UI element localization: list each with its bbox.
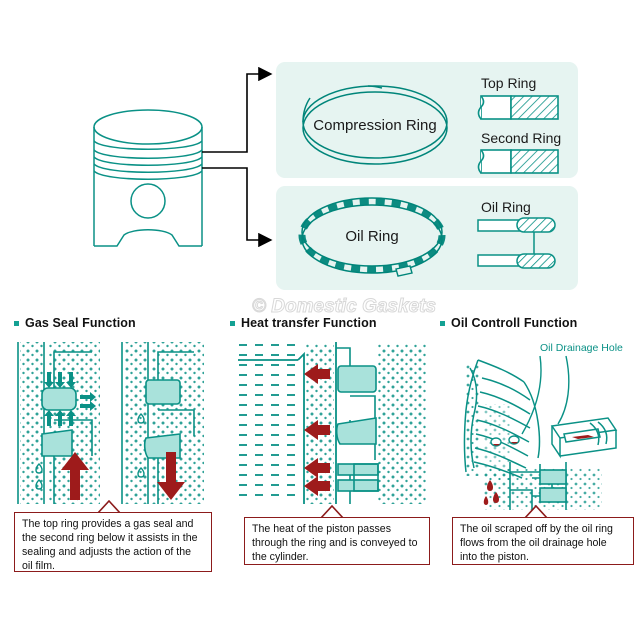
piston-illustration bbox=[94, 110, 202, 246]
oil-ring-section-label: Oil Ring bbox=[481, 199, 531, 215]
second-ring-label: Second Ring bbox=[481, 130, 561, 146]
oil-panel-bg bbox=[276, 186, 578, 290]
oil-ring-label: Oil Ring bbox=[345, 228, 398, 245]
panel-title-oil-control: Oil Controll Function bbox=[440, 316, 577, 330]
panel-title-gas-seal: Gas Seal Function bbox=[14, 316, 136, 330]
oil-control-illustration: Oil Drainage Hole bbox=[448, 338, 640, 510]
top-ring-label: Top Ring bbox=[481, 75, 536, 91]
leader-lines bbox=[202, 74, 271, 240]
compression-ring-label: Compression Ring bbox=[313, 117, 436, 134]
gas-seal-caption: The top ring provides a gas seal and the… bbox=[14, 512, 212, 572]
heat-transfer-illustration bbox=[238, 340, 428, 508]
bullet-icon bbox=[14, 321, 19, 326]
bullet-icon bbox=[440, 321, 445, 326]
gas-seal-title: Gas Seal Function bbox=[25, 316, 136, 330]
panel-title-heat-transfer: Heat transfer Function bbox=[230, 316, 377, 330]
heat-transfer-title: Heat transfer Function bbox=[241, 316, 377, 330]
bullet-icon bbox=[230, 321, 235, 326]
heat-transfer-caption: The heat of the piston passes through th… bbox=[244, 517, 430, 565]
oil-control-caption: The oil scraped off by the oil ring flow… bbox=[452, 517, 634, 565]
gas-seal-illustration bbox=[8, 340, 218, 508]
oil-drainage-hole-label: Oil Drainage Hole bbox=[540, 342, 623, 354]
watermark: © Domestic Gaskets bbox=[252, 296, 436, 318]
top-diagram: Compression Ring Top Ring Second Ring Oi… bbox=[0, 0, 640, 300]
oil-control-title: Oil Controll Function bbox=[451, 316, 577, 330]
diagram-canvas: Compression Ring Top Ring Second Ring Oi… bbox=[0, 0, 640, 640]
second-ring-cross-section: Second Ring bbox=[479, 130, 562, 173]
